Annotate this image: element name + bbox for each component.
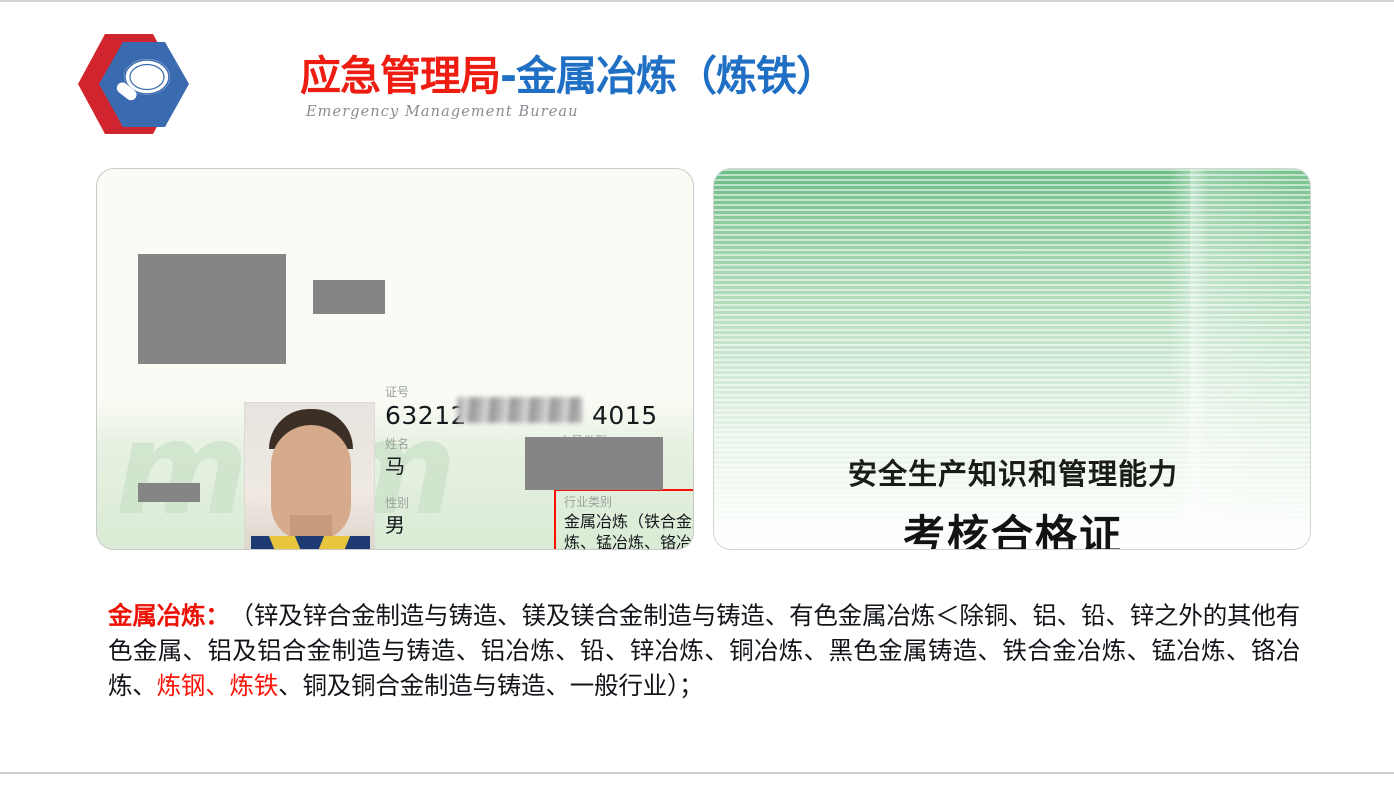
slide-page: 应急管理局-金属冶炼（炼铁） Emergency Management Bure…: [0, 0, 1394, 789]
certificate-card: 安全生产知识和管理能力 考核合格证 中华人民共和国应急管理部监制 ｜ www.m…: [713, 168, 1311, 550]
paragraph-highlight-liangang: 炼钢: [157, 671, 206, 700]
page-title: 应急管理局-金属冶炼（炼铁）: [300, 50, 836, 102]
field-label-sex: 性别: [385, 496, 409, 511]
title-red-part: 应急管理局: [300, 52, 500, 100]
field-sex: 性别 男: [385, 496, 409, 538]
field-value-industry-category: 金属冶炼（铁合金冶炼、锰冶炼、铬冶炼）: [564, 511, 694, 550]
industry-category-highlight-box: 行业类别 金属冶炼（铁合金冶炼、锰冶炼、铬冶炼）: [554, 489, 694, 550]
paragraph-segment-2: 、铜及铜合金制造与铸造、一般行业）；: [278, 671, 703, 700]
cert-no-suffix: 4015: [592, 401, 658, 430]
redaction-qr-code: [525, 437, 663, 490]
page-bottom-divider: [0, 772, 1394, 774]
certificate-title-line1: 安全生产知识和管理能力: [714, 451, 1311, 493]
title-block: 应急管理局-金属冶炼（炼铁） Emergency Management Bure…: [300, 50, 836, 120]
cert-no-prefix: 63212: [385, 401, 467, 430]
field-value-name: 马: [385, 453, 409, 479]
field-label-name: 姓名: [385, 437, 409, 452]
redaction-issuing-authority: [138, 483, 200, 502]
emergency-management-hexagon-magnifier-logo: [68, 28, 190, 140]
field-value-sex: 男: [385, 512, 409, 538]
title-blue-part: 金属冶炼（炼铁）: [516, 52, 836, 100]
redaction-name: [313, 280, 385, 314]
redaction-face: [138, 254, 286, 364]
paragraph-keyword: 金属冶炼：: [108, 601, 217, 630]
page-header: 应急管理局-金属冶炼（炼铁） Emergency Management Bure…: [0, 0, 1394, 155]
industry-scope-paragraph: 金属冶炼： （锌及锌合金制造与铸造、镁及镁合金制造与铸造、有色金属冶炼＜除铜、铝…: [108, 598, 1300, 703]
title-dash: -: [500, 52, 516, 100]
certificate-title-line2: 考核合格证: [714, 502, 1311, 550]
portrait-photo: [244, 402, 375, 550]
field-industry-category: 行业类别 金属冶炼（铁合金冶炼、锰冶炼、铬冶炼）: [564, 495, 694, 550]
paragraph-highlight-separator: 、: [205, 671, 229, 700]
field-label-industry-category: 行业类别: [564, 495, 694, 510]
paragraph-highlight-liantie: 炼铁: [230, 671, 279, 700]
page-subtitle-en: Emergency Management Bureau: [306, 104, 836, 120]
field-name: 姓名 马: [385, 437, 409, 479]
redaction-certificate-number: [457, 397, 582, 423]
